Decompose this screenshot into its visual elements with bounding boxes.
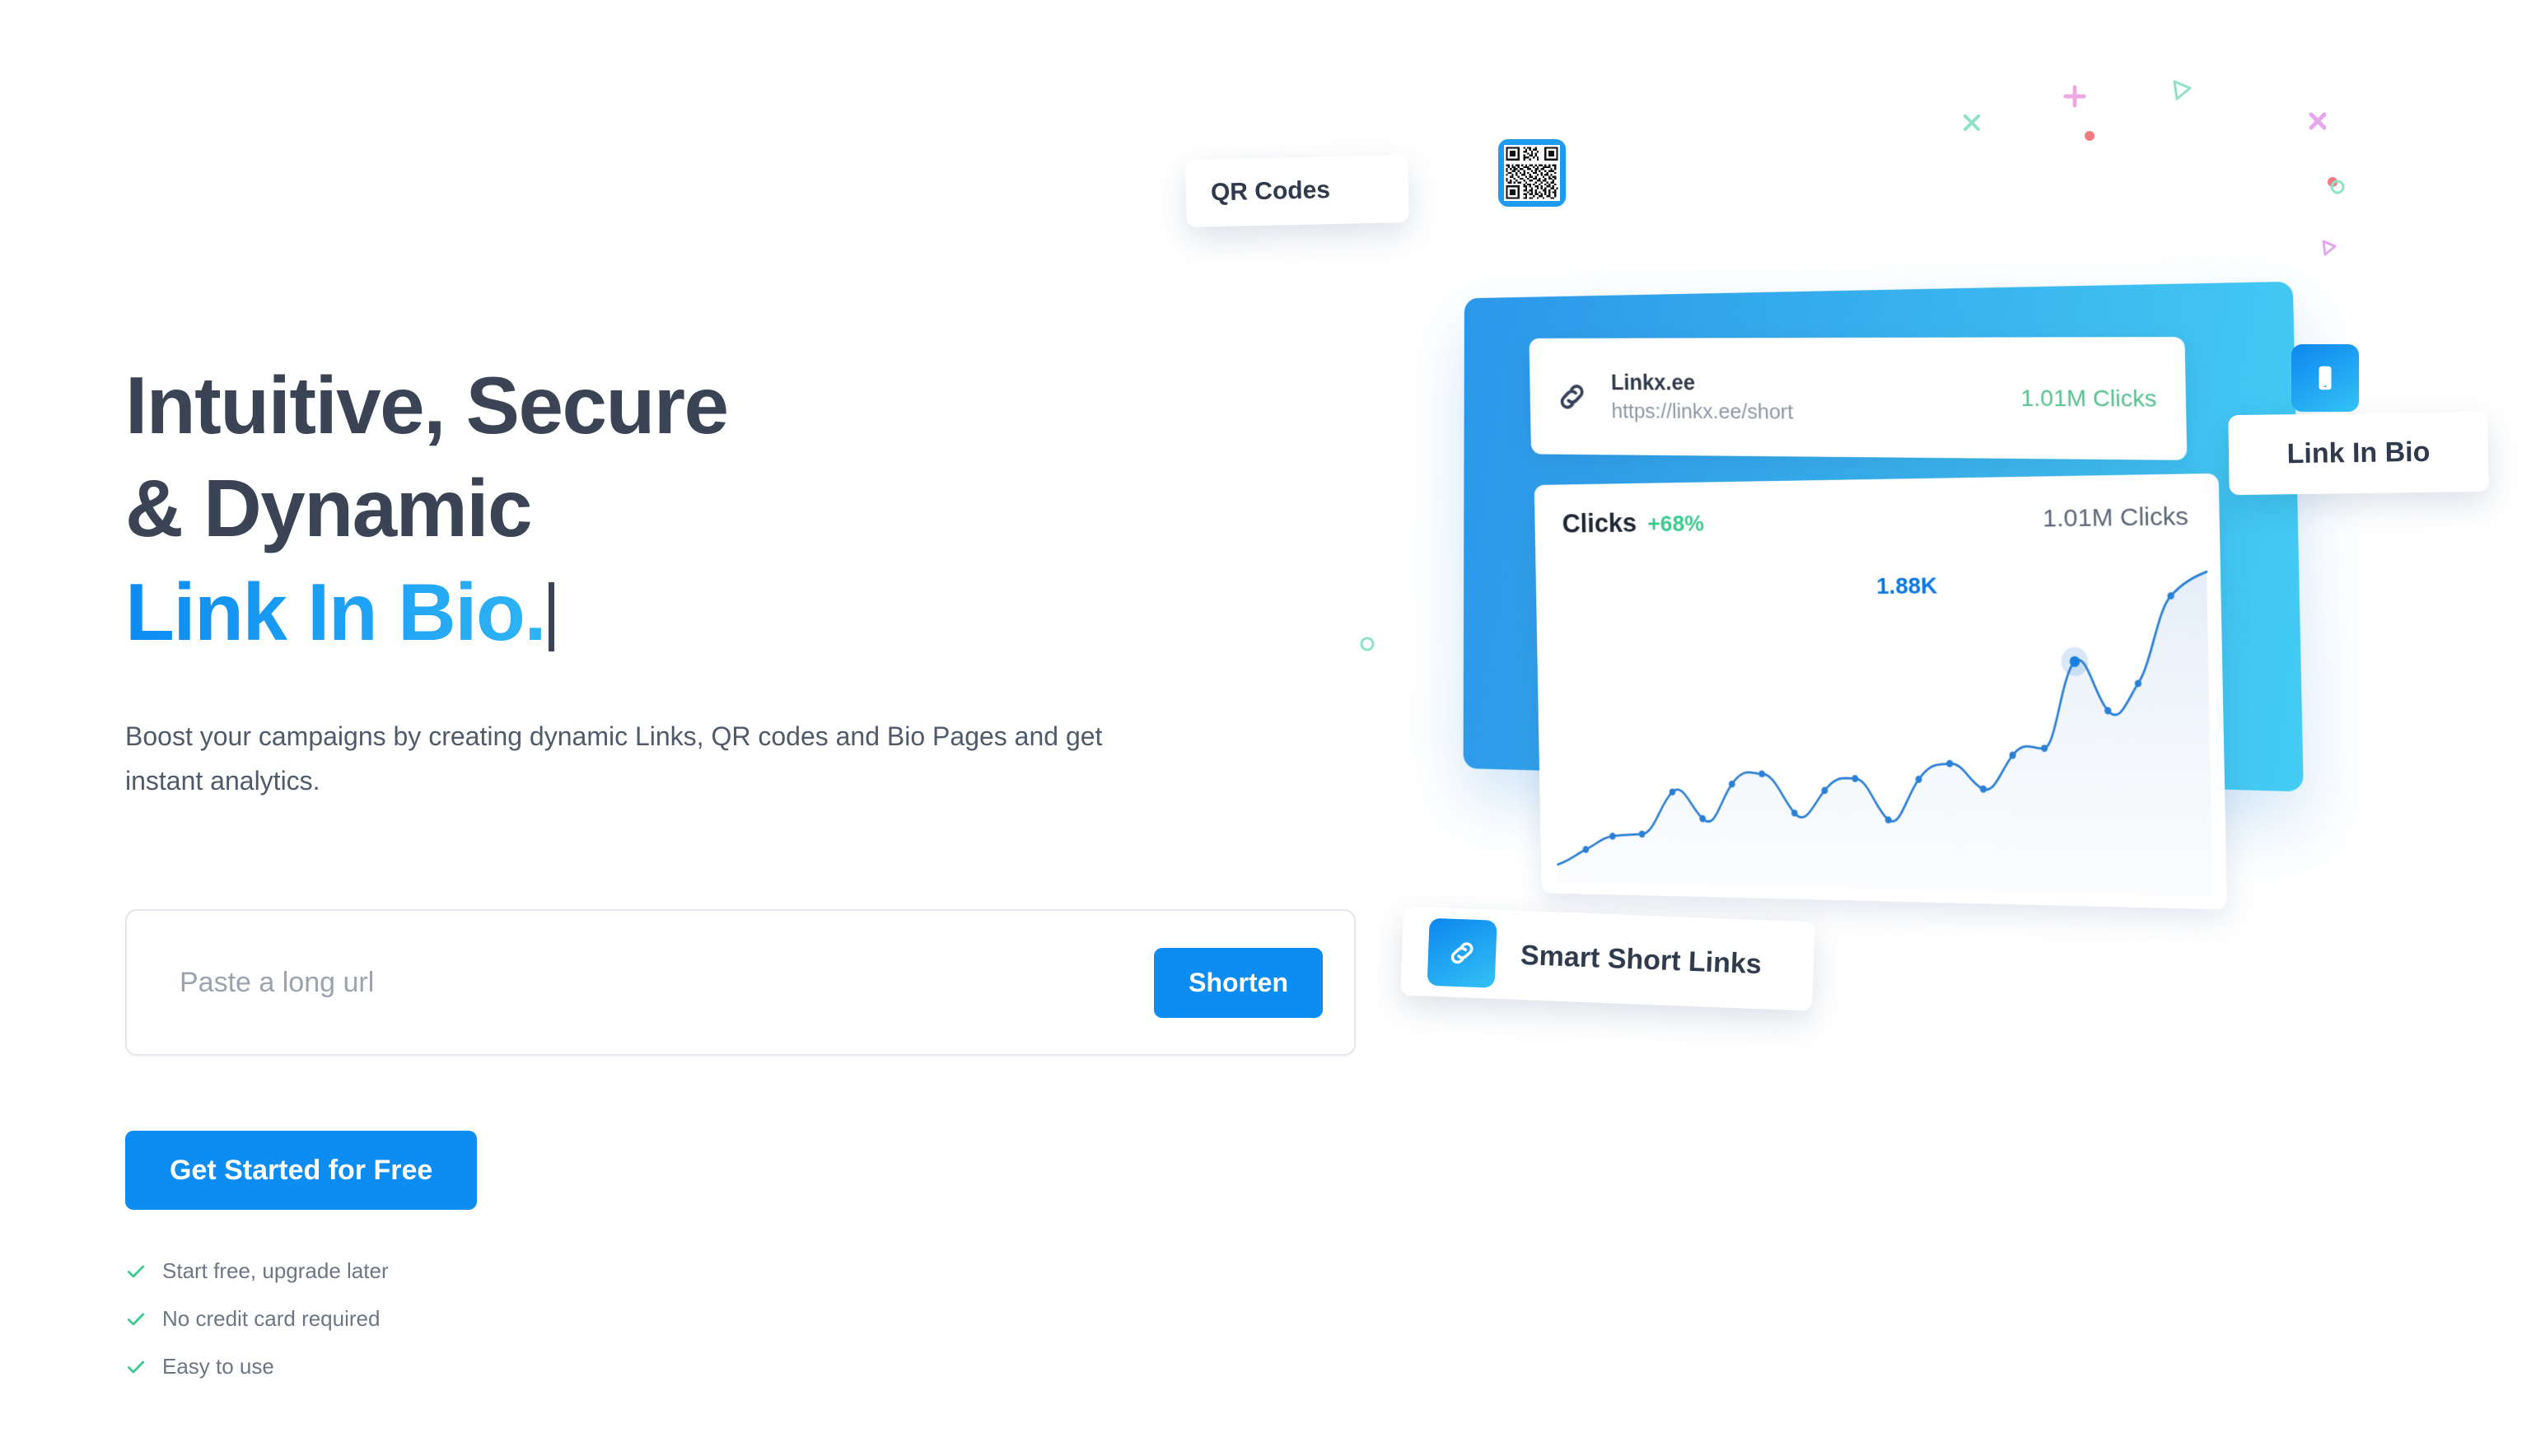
landing-page: Intuitive, Secure & Dynamic Link In Bio.… (0, 0, 2536, 1456)
circle-outline-decoration-icon (1357, 634, 1377, 654)
benefit-label: Easy to use (162, 1354, 274, 1379)
circle-outline-decoration-icon (2328, 178, 2347, 196)
hero-illustration: Linkx.ee https://linkx.ee/short 1.01M Cl… (1301, 82, 2536, 1400)
chain-link-glyph (1445, 936, 1479, 970)
check-icon (125, 1309, 147, 1330)
x-decoration-icon (1960, 111, 1983, 134)
dot-decoration-icon (2083, 129, 2096, 142)
qr-code-glyph (1504, 145, 1560, 201)
short-link-click-count: 1.01M Clicks (2020, 385, 2157, 412)
clicks-chart-card: Clicks +68% 1.01M Clicks 1.88K (1534, 474, 2227, 910)
headline-accent: Link In Bio. (125, 567, 545, 657)
qr-codes-badge[interactable]: QR Codes (1185, 155, 1409, 227)
chart-svg (1546, 555, 2220, 904)
short-link-url: https://linkx.ee/short (1611, 397, 1998, 427)
dot-decoration-icon (2325, 175, 2340, 189)
clicks-area-chart: 1.88K (1546, 555, 2220, 904)
hero-text-block: Intuitive, Secure & Dynamic Link In Bio.… (125, 354, 1394, 804)
long-url-input[interactable] (180, 911, 1154, 1054)
check-icon (125, 1261, 147, 1282)
headline-line-1: Intuitive, Secure (125, 354, 1394, 457)
chain-link-icon (1554, 378, 1590, 415)
chart-delta-badge: +68% (1647, 511, 1704, 537)
headline-line-2: & Dynamic (125, 457, 1394, 560)
link-in-bio-badge-label: Link In Bio (2286, 436, 2430, 470)
qr-codes-badge-label: QR Codes (1211, 176, 1331, 207)
plus-decoration-icon (2061, 82, 2089, 110)
smart-short-links-badge-label: Smart Short Links (1520, 939, 1762, 980)
short-link-card[interactable]: Linkx.ee https://linkx.ee/short 1.01M Cl… (1529, 337, 2187, 460)
get-started-button[interactable]: Get Started for Free (125, 1131, 477, 1210)
triangle-decoration-icon (2168, 77, 2196, 105)
mobile-phone-icon (2291, 344, 2359, 412)
mobile-phone-glyph (2310, 363, 2340, 393)
link-in-bio-badge[interactable]: Link In Bio (2228, 412, 2488, 495)
chart-title: Clicks (1562, 507, 1637, 539)
chart-total-clicks: 1.01M Clicks (2043, 502, 2189, 533)
list-item: Easy to use (125, 1354, 389, 1379)
page-title: Intuitive, Secure & Dynamic Link In Bio. (125, 354, 1394, 664)
url-shortener-form: Shorten (125, 909, 1356, 1056)
check-icon (125, 1356, 147, 1378)
benefits-list: Start free, upgrade later No credit card… (125, 1258, 389, 1402)
typing-caret (549, 582, 554, 651)
list-item: No credit card required (125, 1306, 389, 1332)
benefit-label: No credit card required (162, 1306, 380, 1332)
chart-header: Clicks +68% 1.01M Clicks (1562, 499, 2188, 539)
triangle-decoration-icon (2318, 237, 2339, 259)
benefit-label: Start free, upgrade later (162, 1258, 389, 1284)
shorten-button[interactable]: Shorten (1154, 948, 1323, 1018)
chain-link-icon (1427, 918, 1497, 988)
qr-code-icon (1498, 139, 1566, 207)
x-decoration-icon (2305, 109, 2330, 133)
short-link-title: Linkx.ee (1611, 368, 1997, 399)
chart-point-label: 1.88K (1876, 572, 1938, 600)
smart-short-links-badge[interactable]: Smart Short Links (1400, 906, 1815, 1010)
hero-subheadline: Boost your campaigns by creating dynamic… (125, 715, 1155, 804)
chart-area-fill (1553, 572, 2213, 897)
list-item: Start free, upgrade later (125, 1258, 389, 1284)
